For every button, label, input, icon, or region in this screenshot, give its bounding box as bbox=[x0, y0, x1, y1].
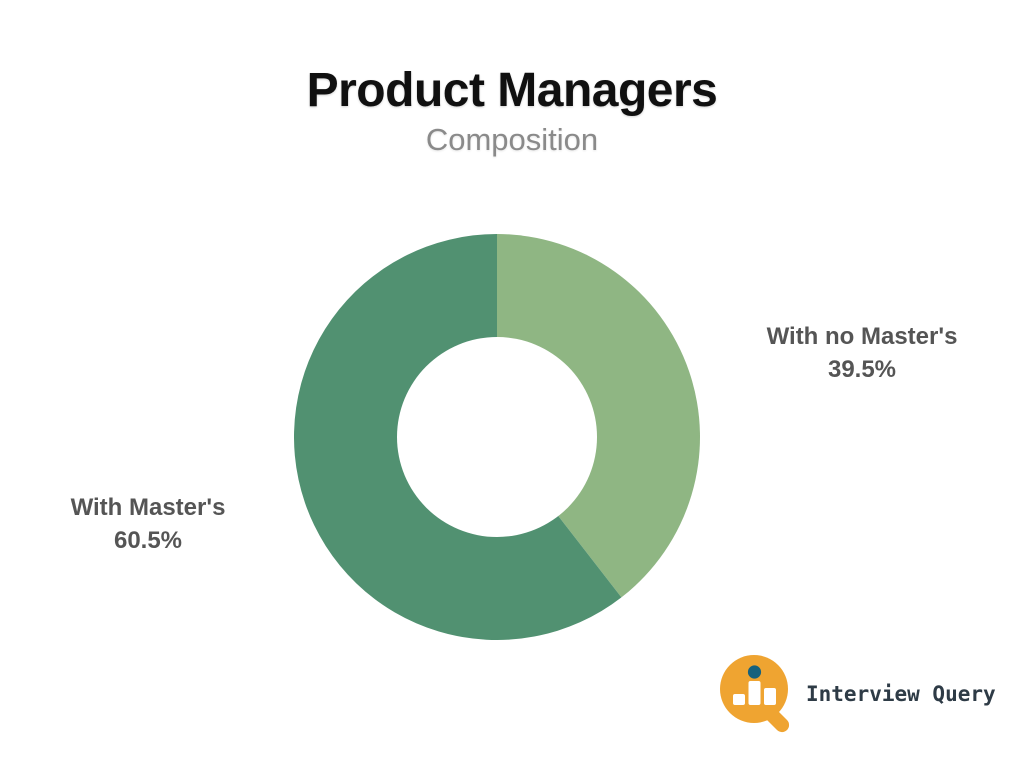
slice-label-name: With no Master's bbox=[767, 323, 958, 350]
donut-chart bbox=[294, 234, 700, 640]
page-title: Product Managers bbox=[0, 66, 1024, 116]
accent-dot-icon bbox=[748, 665, 761, 678]
magnifier-bar-chart-icon bbox=[718, 653, 798, 735]
slice-label-with-no-masters: With no Master's 39.5% bbox=[714, 320, 1010, 386]
branding-logo: Interview Query bbox=[718, 648, 988, 740]
donut-hole bbox=[397, 337, 597, 537]
bar-short-icon bbox=[733, 694, 745, 705]
bar-medium-icon bbox=[764, 688, 776, 705]
chart-header: Product Managers Composition bbox=[0, 66, 1024, 158]
bar-tall-icon bbox=[749, 681, 761, 705]
chart-canvas: Product Managers Composition With no Mas… bbox=[0, 0, 1024, 768]
slice-label-percent: 60.5% bbox=[14, 524, 282, 557]
chart-subtitle: Composition bbox=[0, 122, 1024, 158]
donut-chart-svg bbox=[294, 234, 700, 640]
slice-label-name: With Master's bbox=[71, 494, 226, 521]
slice-label-percent: 39.5% bbox=[714, 353, 1010, 386]
slice-label-with-masters: With Master's 60.5% bbox=[14, 491, 282, 557]
brand-name: Interview Query bbox=[806, 682, 996, 706]
